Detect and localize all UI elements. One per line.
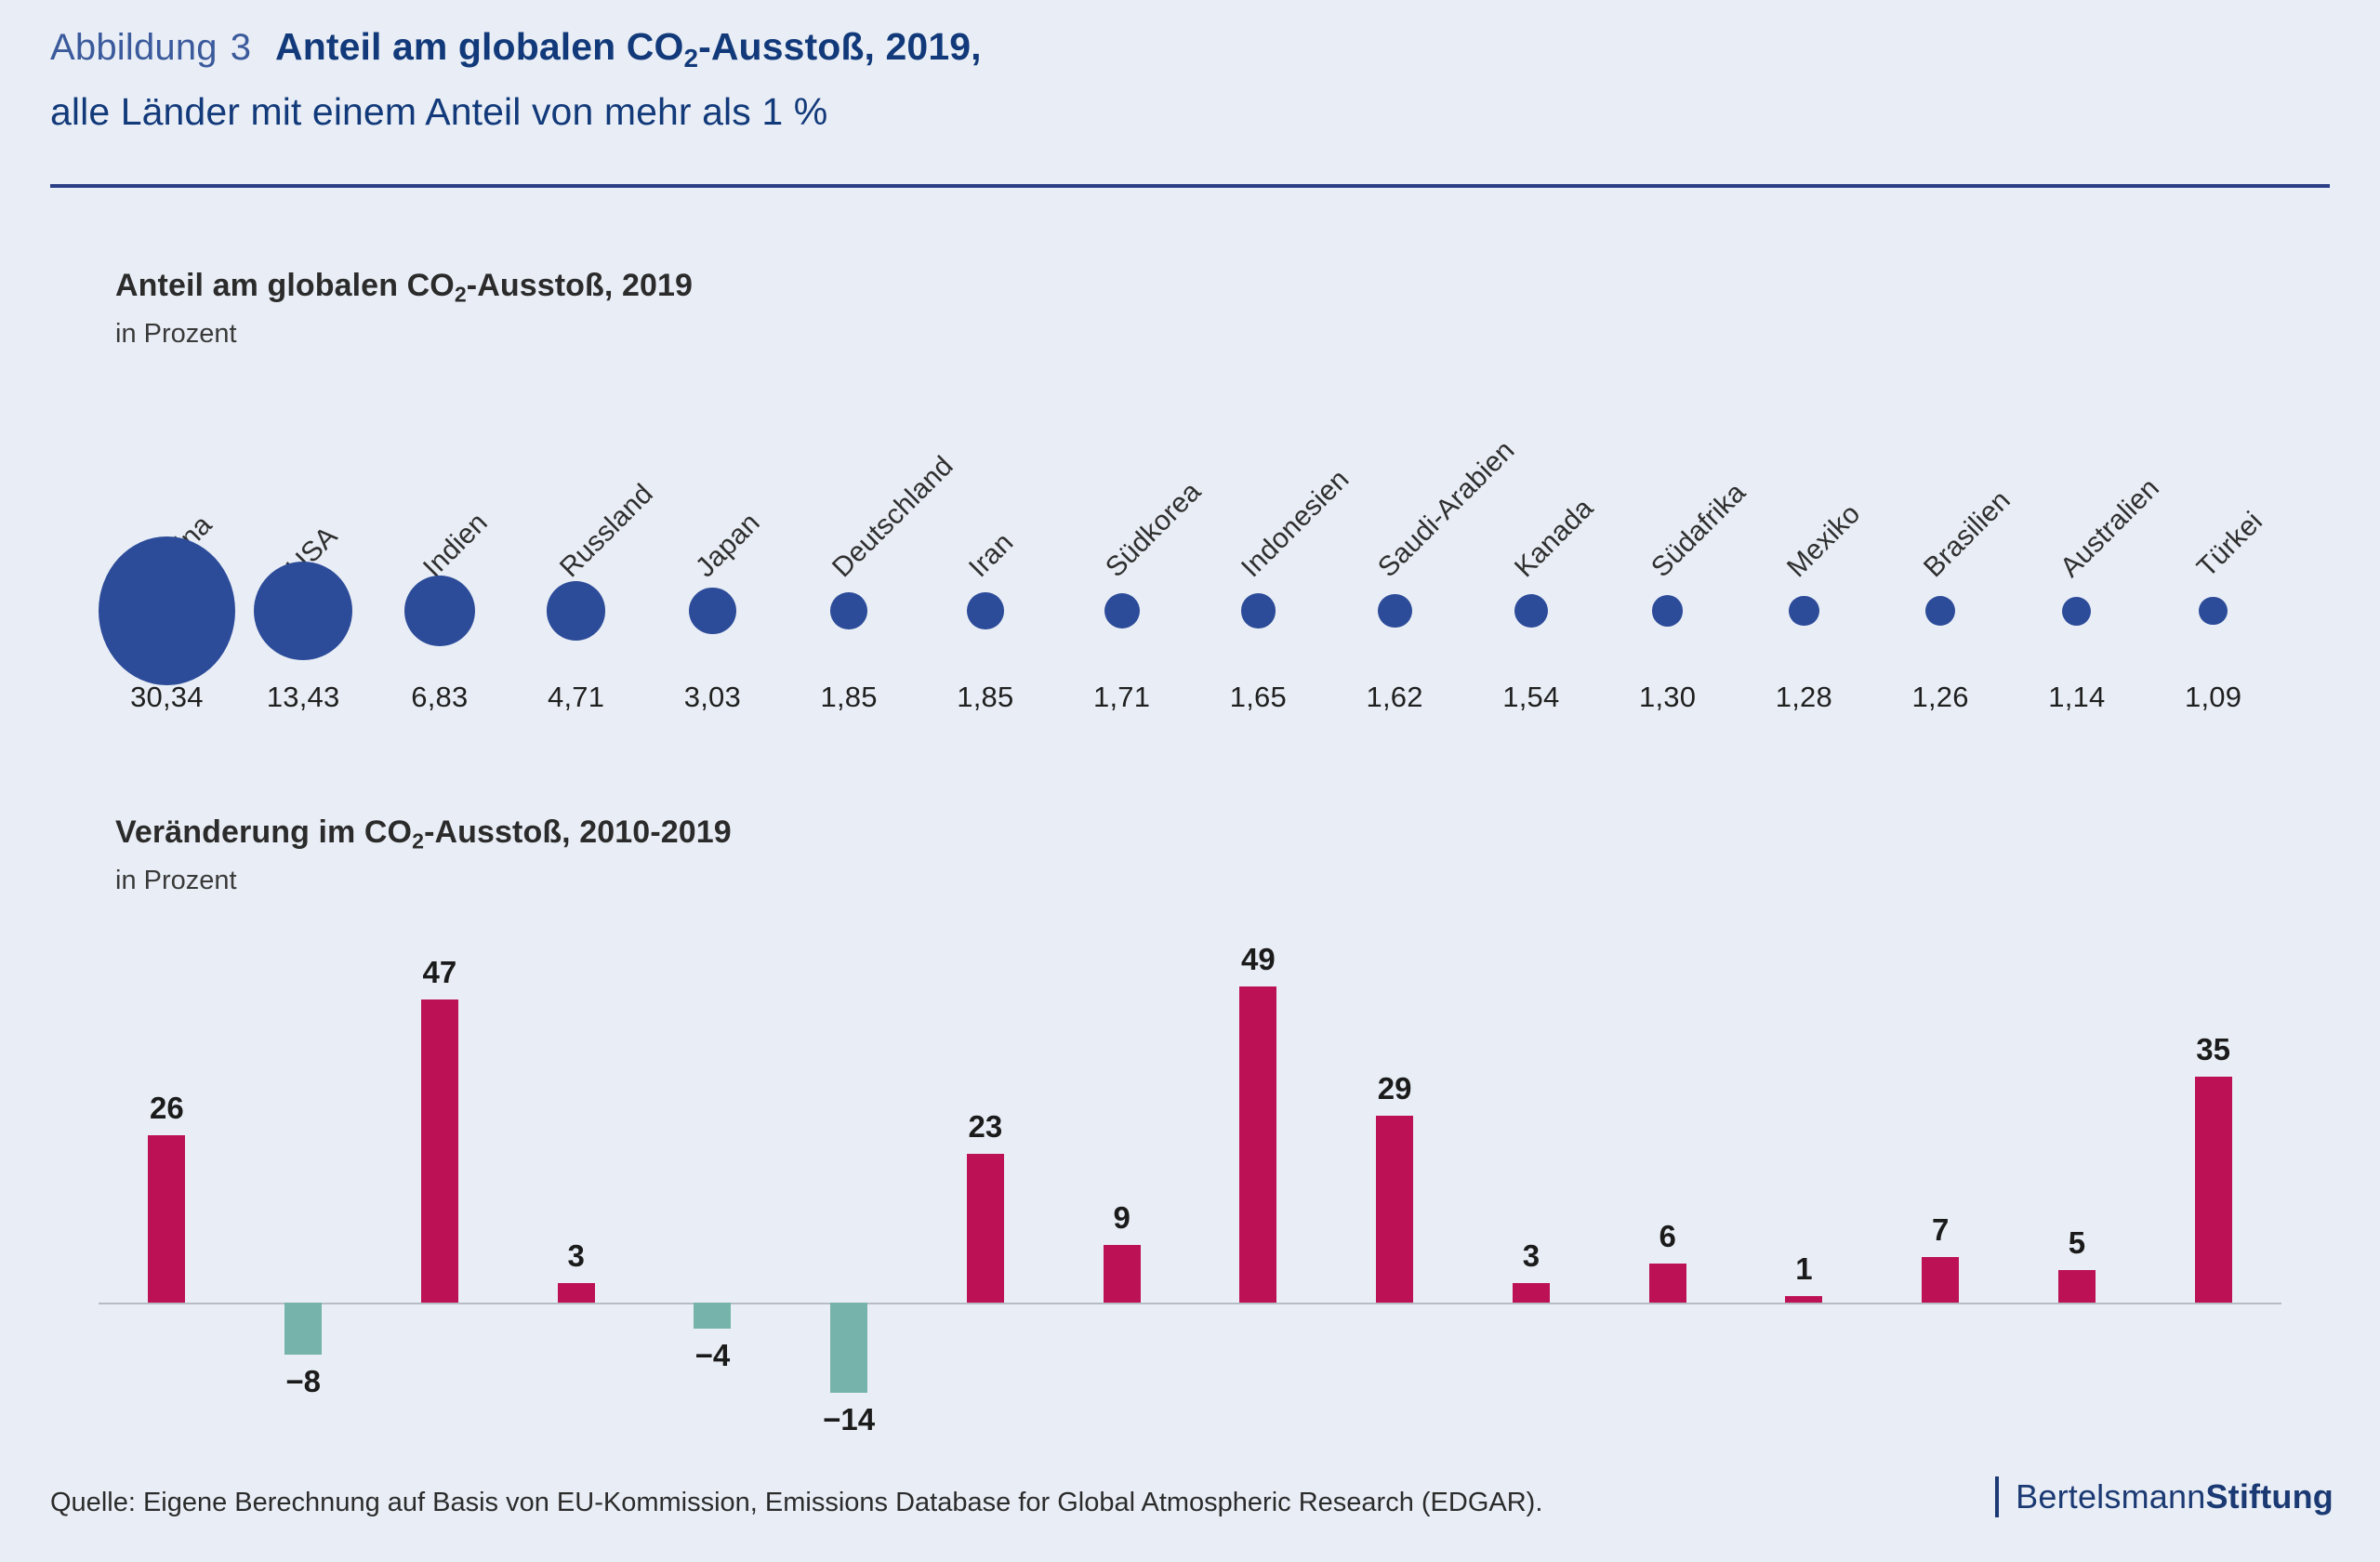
bar-column: −8 (235, 907, 372, 1447)
share-bubble-chart: China30,34USA13,43Indien6,83Russland4,71… (0, 353, 2380, 744)
logo-text-light: Bertelsmann (2016, 1477, 2205, 1516)
bubble-column: Mexiko1,28 (1736, 353, 1872, 744)
change-bar (558, 1283, 595, 1303)
bubble-slot (235, 560, 372, 662)
bar-column: −14 (781, 907, 918, 1447)
share-value-label: 1,85 (918, 681, 1054, 714)
change-bar (421, 999, 458, 1303)
change-value-label: 49 (1190, 942, 1327, 977)
bubble-column: Deutschland1,85 (781, 353, 918, 744)
bar-column: 29 (1327, 907, 1463, 1447)
change-bar (1376, 1116, 1413, 1303)
change-value-label: 29 (1327, 1071, 1463, 1106)
change-value-label: 5 (2009, 1225, 2146, 1261)
bubble-column: Südkorea1,71 (1053, 353, 1190, 744)
change-title-part-a: Veränderung im CO (115, 814, 412, 850)
change-value-label: 9 (1053, 1200, 1190, 1236)
share-value-label: 6,83 (372, 681, 509, 714)
change-value-label: 6 (1599, 1219, 1736, 1254)
share-value-label: 4,71 (508, 681, 644, 714)
change-bar (694, 1303, 731, 1329)
change-bar (1922, 1257, 1959, 1303)
share-value-label: 1,30 (1599, 681, 1736, 714)
change-bar (2195, 1077, 2232, 1303)
change-bar (1239, 986, 1276, 1303)
co2-subscript: 2 (412, 828, 424, 853)
bubble-column: Indien6,83 (372, 353, 509, 744)
bubble-column: Australien1,14 (2009, 353, 2146, 744)
share-chart-heading: Anteil am globalen CO2-Ausstoß, 2019 in … (115, 268, 693, 350)
bar-column: 5 (2009, 907, 2146, 1447)
bubble-column: Saudi-Arabien1,62 (1327, 353, 1463, 744)
bubble-slot (1053, 560, 1190, 662)
change-value-label: 1 (1736, 1251, 1872, 1287)
share-value-label: 3,03 (644, 681, 781, 714)
share-bubble (1789, 596, 1819, 627)
bubble-slot (1327, 560, 1463, 662)
share-title-part-a: Anteil am globalen CO (115, 268, 455, 303)
logo-text: BertelsmannStiftung (2016, 1477, 2334, 1516)
change-value-label: 23 (918, 1109, 1054, 1145)
change-bar (148, 1135, 185, 1303)
bubble-slot (372, 560, 509, 662)
share-bubble (99, 536, 235, 685)
share-value-label: 1,85 (781, 681, 918, 714)
share-value-label: 30,34 (99, 681, 235, 714)
bubble-column: Iran1,85 (918, 353, 1054, 744)
bubble-column: China30,34 (99, 353, 235, 744)
bubble-column: USA13,43 (235, 353, 372, 744)
bubble-slot (1599, 560, 1736, 662)
share-bubble (1652, 595, 1683, 626)
share-bubble (689, 588, 736, 635)
bar-column: 3 (508, 907, 644, 1447)
share-bubble (830, 592, 867, 629)
header-line-1: Abbildung3Anteil am globalen CO2-Ausstoß… (50, 28, 2330, 72)
share-value-label: 1,65 (1190, 681, 1327, 714)
change-bar (1649, 1264, 1686, 1303)
page-title-part-a: Anteil am globalen CO (275, 25, 684, 68)
bar-column: 7 (1872, 907, 2009, 1447)
header: Abbildung3Anteil am globalen CO2-Ausstoß… (50, 28, 2330, 131)
change-value-label: 35 (2145, 1032, 2281, 1067)
logo-rule-icon (1995, 1476, 1999, 1517)
share-value-label: 1,28 (1736, 681, 1872, 714)
bar-column: 3 (1463, 907, 1600, 1447)
bubble-column: Türkei1,09 (2145, 353, 2281, 744)
share-bubble (1241, 593, 1276, 628)
bubble-slot (2145, 560, 2281, 662)
change-bar (830, 1303, 867, 1393)
source-note: Quelle: Eigene Berechnung auf Basis von … (50, 1488, 1542, 1518)
co2-subscript: 2 (683, 44, 698, 73)
share-value-label: 1,14 (2009, 681, 2146, 714)
share-chart-subtitle: in Prozent (115, 319, 693, 350)
bubble-slot (1190, 560, 1327, 662)
share-value-label: 1,62 (1327, 681, 1463, 714)
bubble-slot (781, 560, 918, 662)
bar-column: −4 (644, 907, 781, 1447)
share-value-label: 1,09 (2145, 681, 2281, 714)
change-bar (1104, 1245, 1141, 1303)
bar-column: 23 (918, 907, 1054, 1447)
share-title-part-b: -Ausstoß, 2019 (467, 268, 693, 303)
share-bubble (1925, 596, 1956, 627)
share-value-label: 1,71 (1053, 681, 1190, 714)
change-chart-subtitle: in Prozent (115, 866, 732, 896)
figure-label: Abbildung (50, 27, 218, 68)
change-value-label: 47 (372, 955, 509, 990)
change-bar (284, 1303, 322, 1355)
bubble-slot (1463, 560, 1600, 662)
bubble-column: Brasilien1,26 (1872, 353, 2009, 744)
bar-column: 47 (372, 907, 509, 1447)
bubble-slot (918, 560, 1054, 662)
change-bar (967, 1154, 1004, 1303)
infographic-page: Abbildung3Anteil am globalen CO2-Ausstoß… (0, 0, 2380, 1562)
change-value-label: −8 (235, 1364, 372, 1399)
share-value-label: 1,26 (1872, 681, 2009, 714)
figure-number: 3 (231, 27, 251, 68)
bubble-slot (1736, 560, 1872, 662)
change-value-label: −14 (781, 1402, 918, 1437)
change-chart-heading: Veränderung im CO2-Ausstoß, 2010-2019 in… (115, 814, 732, 896)
bar-column: 49 (1190, 907, 1327, 1447)
bubble-slot (1872, 560, 2009, 662)
bubble-column: Indonesien1,65 (1190, 353, 1327, 744)
co2-subscript: 2 (455, 282, 467, 306)
bubble-slot (2009, 560, 2146, 662)
share-bubble (2062, 597, 2091, 626)
share-bubble (404, 576, 475, 646)
change-bar (2058, 1270, 2096, 1303)
bubble-column: Kanada1,54 (1463, 353, 1600, 744)
logo-text-bold: Stiftung (2205, 1477, 2334, 1516)
change-value-label: 3 (1463, 1238, 1600, 1274)
share-chart-title: Anteil am globalen CO2-Ausstoß, 2019 (115, 268, 693, 307)
bubble-column: Japan3,03 (644, 353, 781, 744)
share-bubble (254, 562, 352, 660)
change-bar (1513, 1283, 1550, 1303)
change-value-label: 26 (99, 1091, 235, 1126)
header-divider (50, 184, 2330, 188)
share-bubble (2199, 597, 2227, 625)
change-title-part-b: -Ausstoß, 2010-2019 (424, 814, 732, 850)
page-subtitle: alle Länder mit einem Anteil von mehr al… (50, 93, 2330, 131)
bubble-slot (99, 560, 235, 662)
share-value-label: 13,43 (235, 681, 372, 714)
change-value-label: 3 (508, 1238, 644, 1274)
bubble-column: Südafrika1,30 (1599, 353, 1736, 744)
change-chart-title: Veränderung im CO2-Ausstoß, 2010-2019 (115, 814, 732, 854)
change-value-label: −4 (644, 1338, 781, 1373)
share-value-label: 1,54 (1463, 681, 1600, 714)
change-bar-chart: 26−8473−4−1423949293617535 (0, 907, 2380, 1447)
bar-column: 35 (2145, 907, 2281, 1447)
share-bubble (1104, 593, 1140, 629)
share-bubble (967, 592, 1004, 629)
bar-column: 9 (1053, 907, 1190, 1447)
page-title: Anteil am globalen CO2-Ausstoß, 2019, (275, 25, 982, 68)
bar-column: 26 (99, 907, 235, 1447)
bertelsmann-stiftung-logo: BertelsmannStiftung (1995, 1476, 2334, 1517)
change-bar (1785, 1296, 1822, 1303)
change-value-label: 7 (1872, 1212, 2009, 1248)
share-bubble (1378, 594, 1412, 629)
bar-column: 1 (1736, 907, 1872, 1447)
page-title-part-b: -Ausstoß, 2019, (698, 25, 982, 68)
bubble-slot (508, 560, 644, 662)
bubble-slot (644, 560, 781, 662)
share-bubble (1514, 594, 1548, 628)
bar-column: 6 (1599, 907, 1736, 1447)
bubble-column: Russland4,71 (508, 353, 644, 744)
share-bubble (547, 581, 605, 640)
